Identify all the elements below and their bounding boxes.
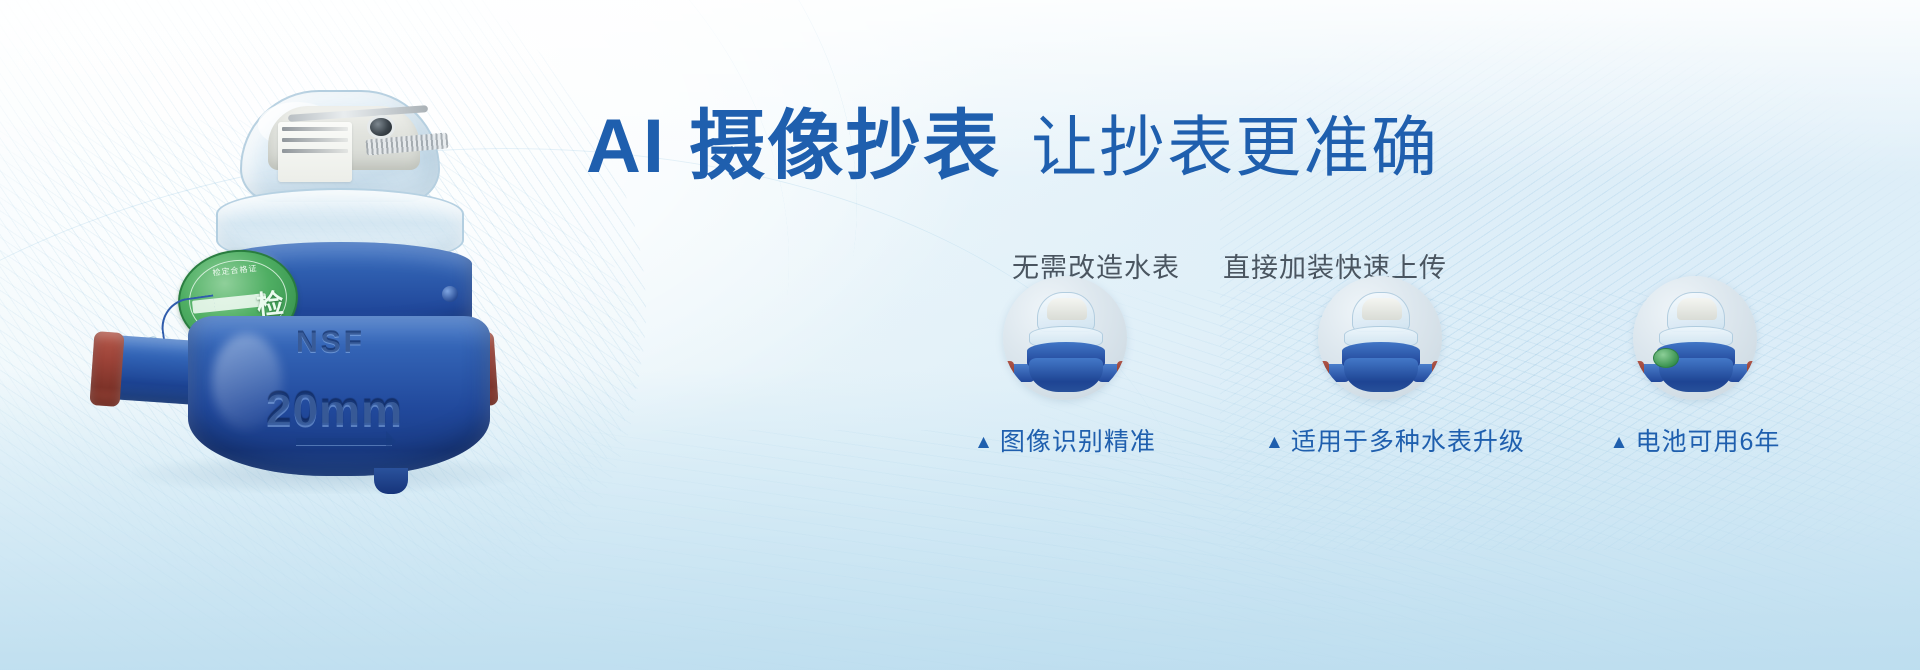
mini-verification-seal	[1653, 348, 1679, 368]
flow-direction-arrow-icon	[296, 438, 392, 445]
size-emboss: 20mm	[266, 382, 403, 436]
feature-item[interactable]: ▲图像识别精准	[950, 276, 1180, 516]
hero-product-image: 检定合格证 检 检定合格 NSF 20mm	[92, 70, 562, 500]
triangle-bullet-icon: ▲	[1610, 432, 1630, 453]
mini-inlet-cap	[1318, 361, 1329, 384]
mini-camera-module	[1677, 298, 1717, 320]
mini-camera-module	[1047, 298, 1087, 320]
feature-caption-text: 适用于多种水表升级	[1291, 428, 1525, 456]
feature-list: ▲图像识别精准 ▲适用于多种水表升级	[950, 276, 1810, 516]
camera-lens-icon	[370, 118, 392, 136]
promo-banner: 检定合格证 检 检定合格 NSF 20mm AI 摄像抄表	[0, 0, 1920, 670]
feature-item[interactable]: ▲电池可用6年	[1580, 276, 1810, 516]
mini-camera-module	[1362, 298, 1402, 320]
mini-body	[1344, 358, 1418, 392]
mini-outlet-cap	[1117, 361, 1127, 384]
mini-outlet-cap	[1432, 361, 1442, 384]
feature-thumb-3[interactable]	[1633, 276, 1757, 400]
brand-emboss: NSF	[296, 326, 365, 360]
feature-caption-1: ▲图像识别精准	[950, 422, 1180, 458]
triangle-bullet-icon: ▲	[1265, 432, 1285, 453]
feature-caption-2: ▲适用于多种水表升级	[1265, 422, 1495, 458]
feature-thumb-1[interactable]	[1003, 276, 1127, 400]
water-meter-illustration: 检定合格证 检 检定合格 NSF 20mm	[92, 70, 562, 500]
triangle-bullet-icon: ▲	[974, 432, 994, 453]
meter-cast-body: NSF 20mm	[188, 316, 490, 476]
mini-meter-illustration	[1633, 276, 1757, 400]
mini-inlet-cap	[1003, 361, 1014, 384]
mini-meter-illustration	[1003, 276, 1127, 400]
mini-outlet-cap	[1747, 361, 1757, 384]
headline-primary: AI 摄像抄表	[586, 109, 1001, 185]
mini-body	[1029, 358, 1103, 392]
banner-headline: AI 摄像抄表 让抄表更准确	[586, 104, 1486, 190]
camera-spec-label	[278, 122, 352, 182]
feature-caption-text: 电池可用6年	[1635, 428, 1780, 456]
meter-screw-icon	[442, 286, 458, 302]
feature-item[interactable]: ▲适用于多种水表升级	[1265, 276, 1495, 516]
feature-caption-3: ▲电池可用6年	[1580, 422, 1810, 458]
mini-inlet-cap	[1633, 361, 1644, 384]
inlet-red-cap	[89, 331, 124, 407]
feature-caption-text: 图像识别精准	[1000, 428, 1156, 456]
mini-meter-illustration	[1318, 276, 1442, 400]
drain-nut	[374, 468, 408, 494]
headline-secondary: 让抄表更准确	[1031, 114, 1439, 180]
feature-thumb-2[interactable]	[1318, 276, 1442, 400]
